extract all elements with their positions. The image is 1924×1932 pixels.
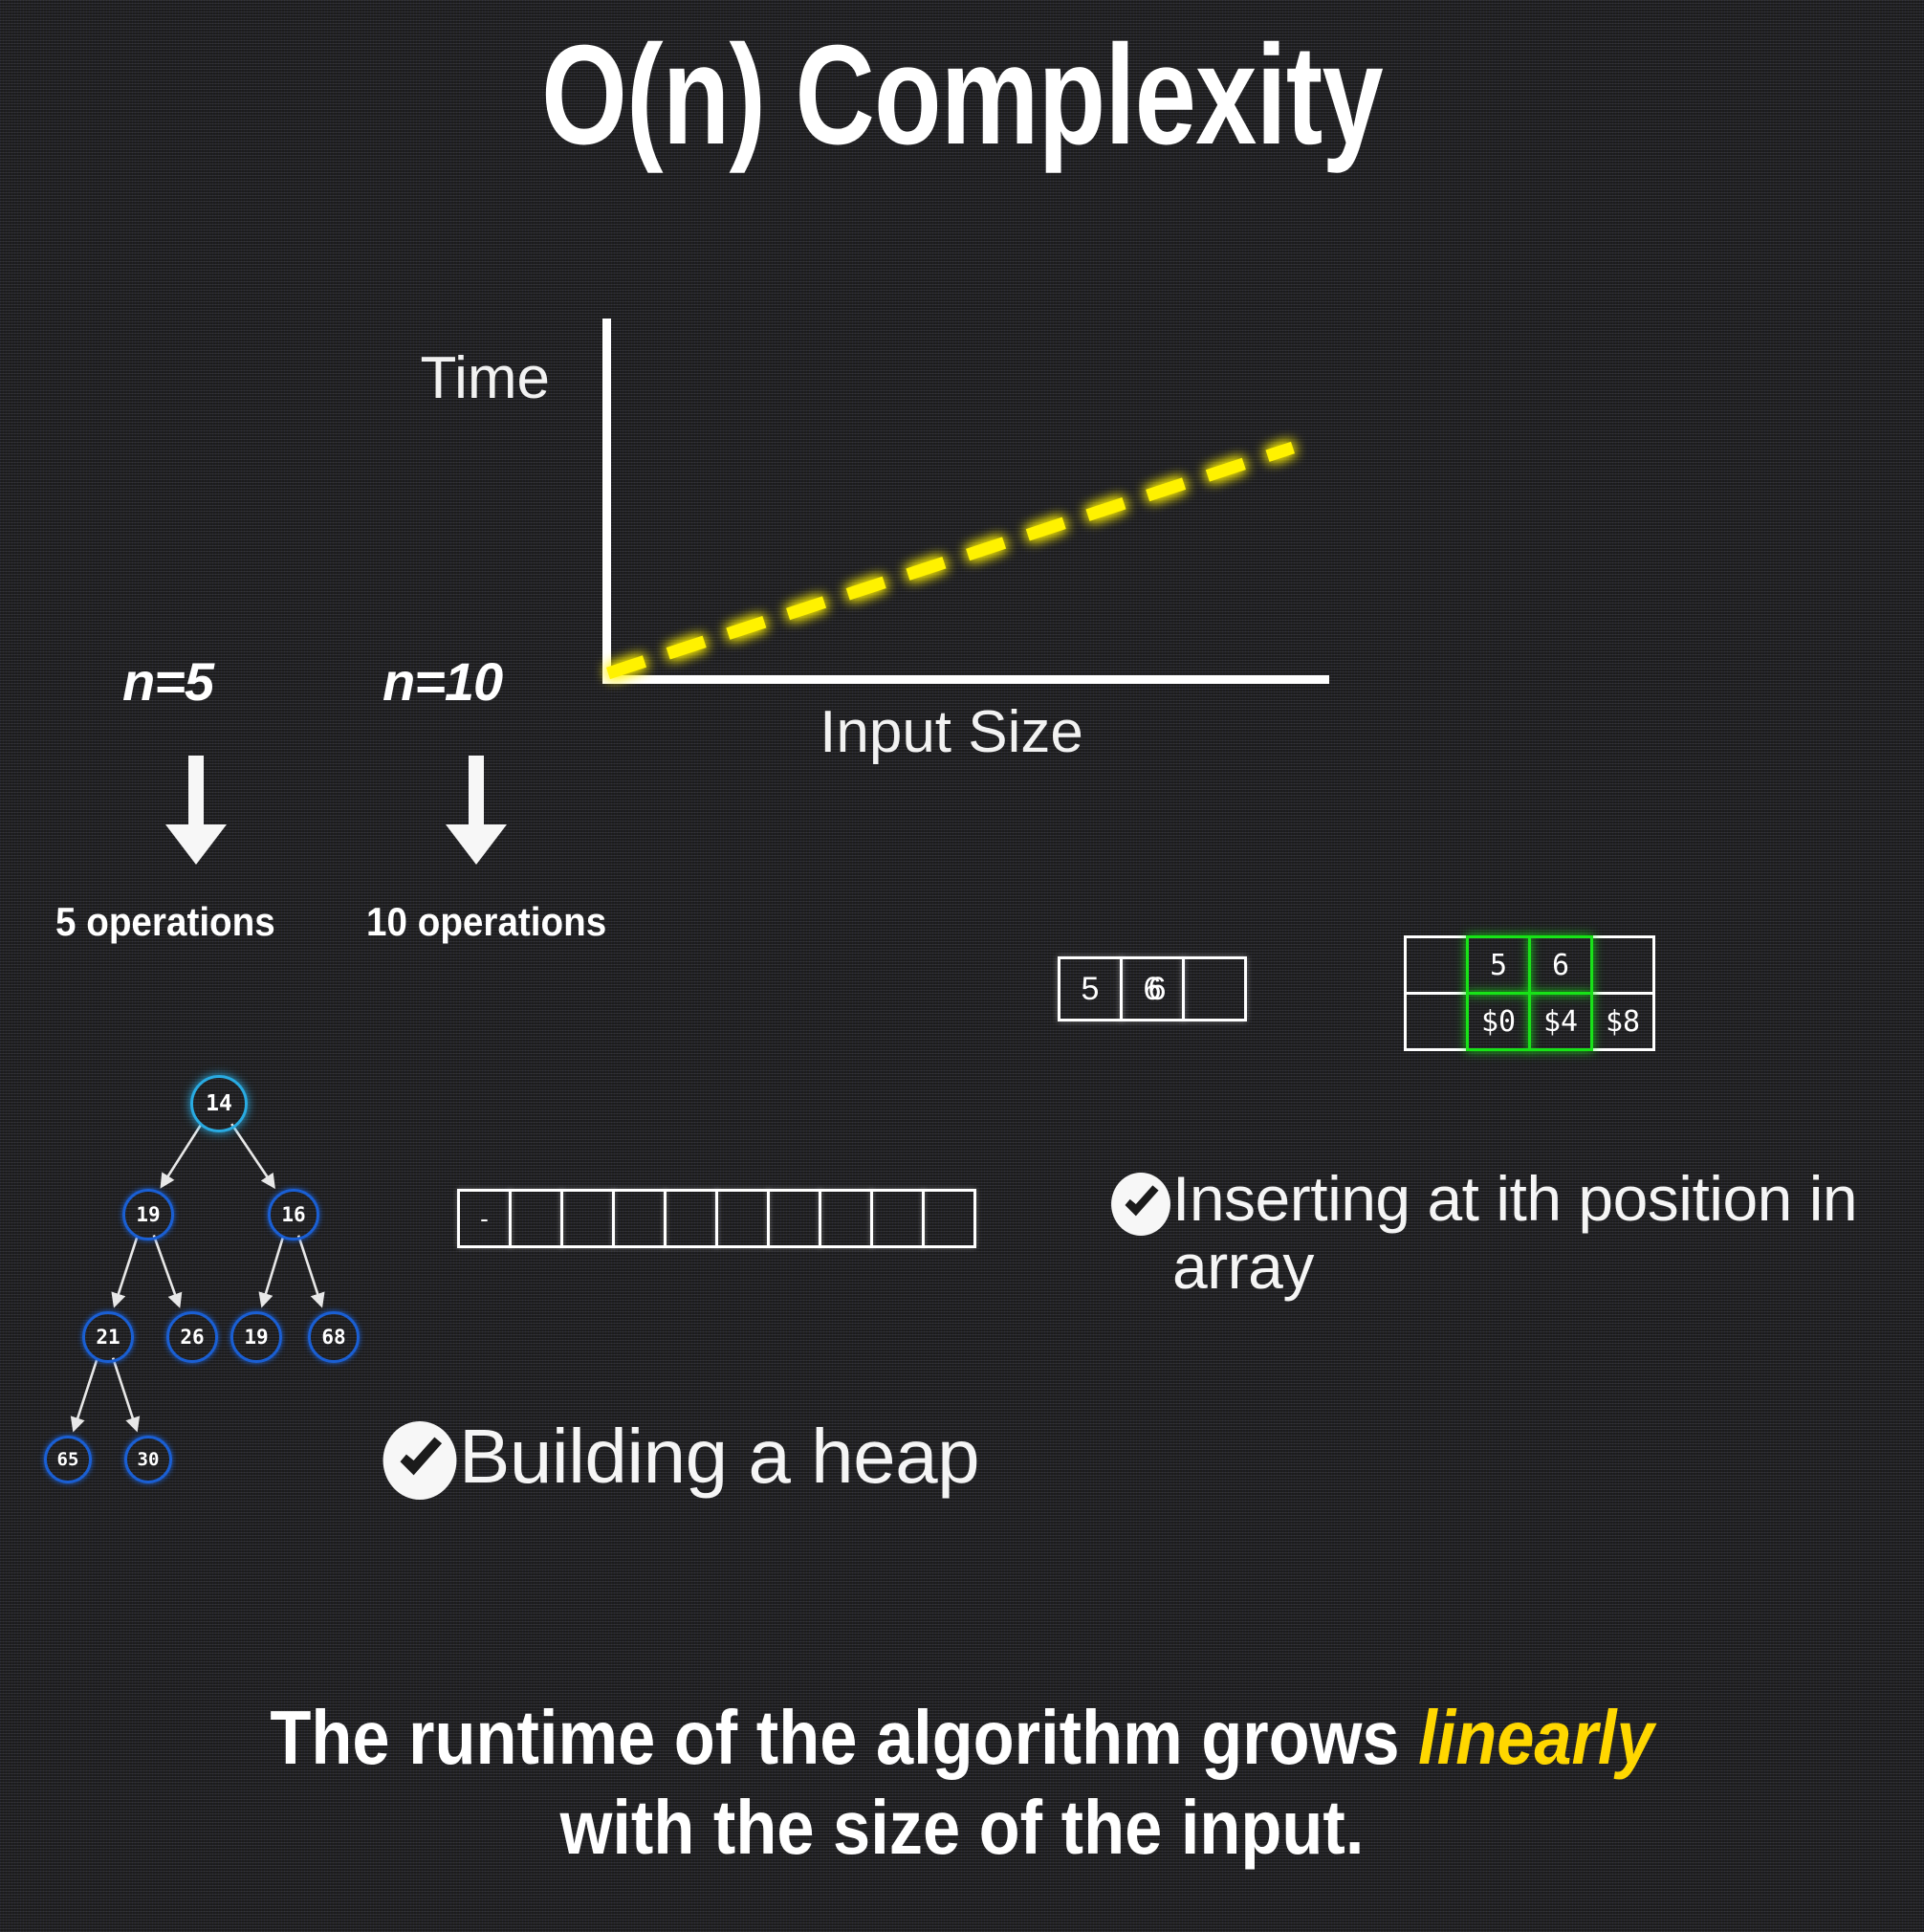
heap-root-node: 14 [190,1075,248,1132]
table-cell-highlighted: 6 [1528,935,1593,995]
array-cell [1182,956,1247,1021]
heap-edge [154,1235,179,1304]
heap-edge [298,1236,320,1304]
heap-node: 65 [44,1436,92,1483]
bullet-label: Inserting at ith position in array [1172,1165,1865,1302]
heap-edge [231,1124,273,1185]
heap-node: 21 [82,1311,134,1363]
table-cell [1404,992,1469,1051]
array-cell: - [457,1189,512,1248]
highlighted-table: 5 6 $0 $4 $8 [1404,935,1652,1048]
summary-caption: The runtime of the algorithm grows linea… [116,1693,1809,1874]
array-cell [819,1189,873,1248]
array-cell [560,1189,615,1248]
operations-count-label-10: 10 operations [366,899,606,945]
heap-node: 19 [230,1311,282,1363]
table-row: 5 6 [1404,935,1652,992]
operations-count-label-5: 5 operations [55,899,275,945]
table-cell [1404,935,1469,995]
array-cell: 5 [1058,956,1123,1021]
array-cell-value-b: 6 [1127,971,1187,1008]
chart-x-axis-label: Input Size [593,698,1310,766]
check-circle-icon [381,1419,459,1502]
table-cell-highlighted: $4 [1528,992,1593,1051]
down-arrow-icon [148,756,244,875]
heap-edge [263,1236,284,1304]
heap-node: 30 [124,1436,172,1483]
array-cell [612,1189,667,1248]
array-cell [509,1189,563,1248]
array-cell [767,1189,821,1248]
down-arrow-icon [428,756,524,875]
mini-array-diagram: 5 6 6 [1058,956,1244,1021]
chart-y-axis-label: Time [244,344,550,412]
table-cell-highlighted: 5 [1466,935,1531,995]
heap-edge [163,1124,201,1184]
table-cell [1590,935,1655,995]
array-cell-overlapping: 6 6 [1120,956,1185,1021]
array-cell [715,1189,770,1248]
complexity-chart: Time Input Size [574,306,1358,708]
check-circle-icon [1109,1171,1172,1238]
heap-edge [113,1358,136,1428]
heap-node: 16 [268,1189,319,1240]
heap-edge [116,1236,138,1304]
page-title: O(n) Complexity [211,21,1712,169]
table-row: $0 $4 $8 [1404,992,1652,1048]
heap-node: 68 [308,1311,360,1363]
heap-node: 26 [166,1311,218,1363]
bullet-building-a-heap: Building a heap [381,1416,1241,1502]
empty-array-diagram: - [457,1189,973,1248]
array-cell [664,1189,718,1248]
n-value-label-10: n=10 [383,650,502,713]
heap-node: 19 [122,1189,174,1240]
n-value-label-5: n=5 [122,650,213,713]
caption-line2: with the size of the input. [560,1785,1365,1870]
array-cell [922,1189,976,1248]
bullet-label: Building a heap [459,1416,979,1498]
caption-line1-before: The runtime of the algorithm grows [270,1695,1418,1780]
table-cell-highlighted: $0 [1466,992,1531,1051]
table-cell: $8 [1590,992,1655,1051]
heap-edge [75,1358,98,1428]
chart-trend-line [574,306,1358,708]
array-cell [870,1189,925,1248]
bullet-inserting-at-ith-position: Inserting at ith position in array [1109,1165,1865,1302]
caption-highlight-word: linearly [1418,1695,1654,1780]
